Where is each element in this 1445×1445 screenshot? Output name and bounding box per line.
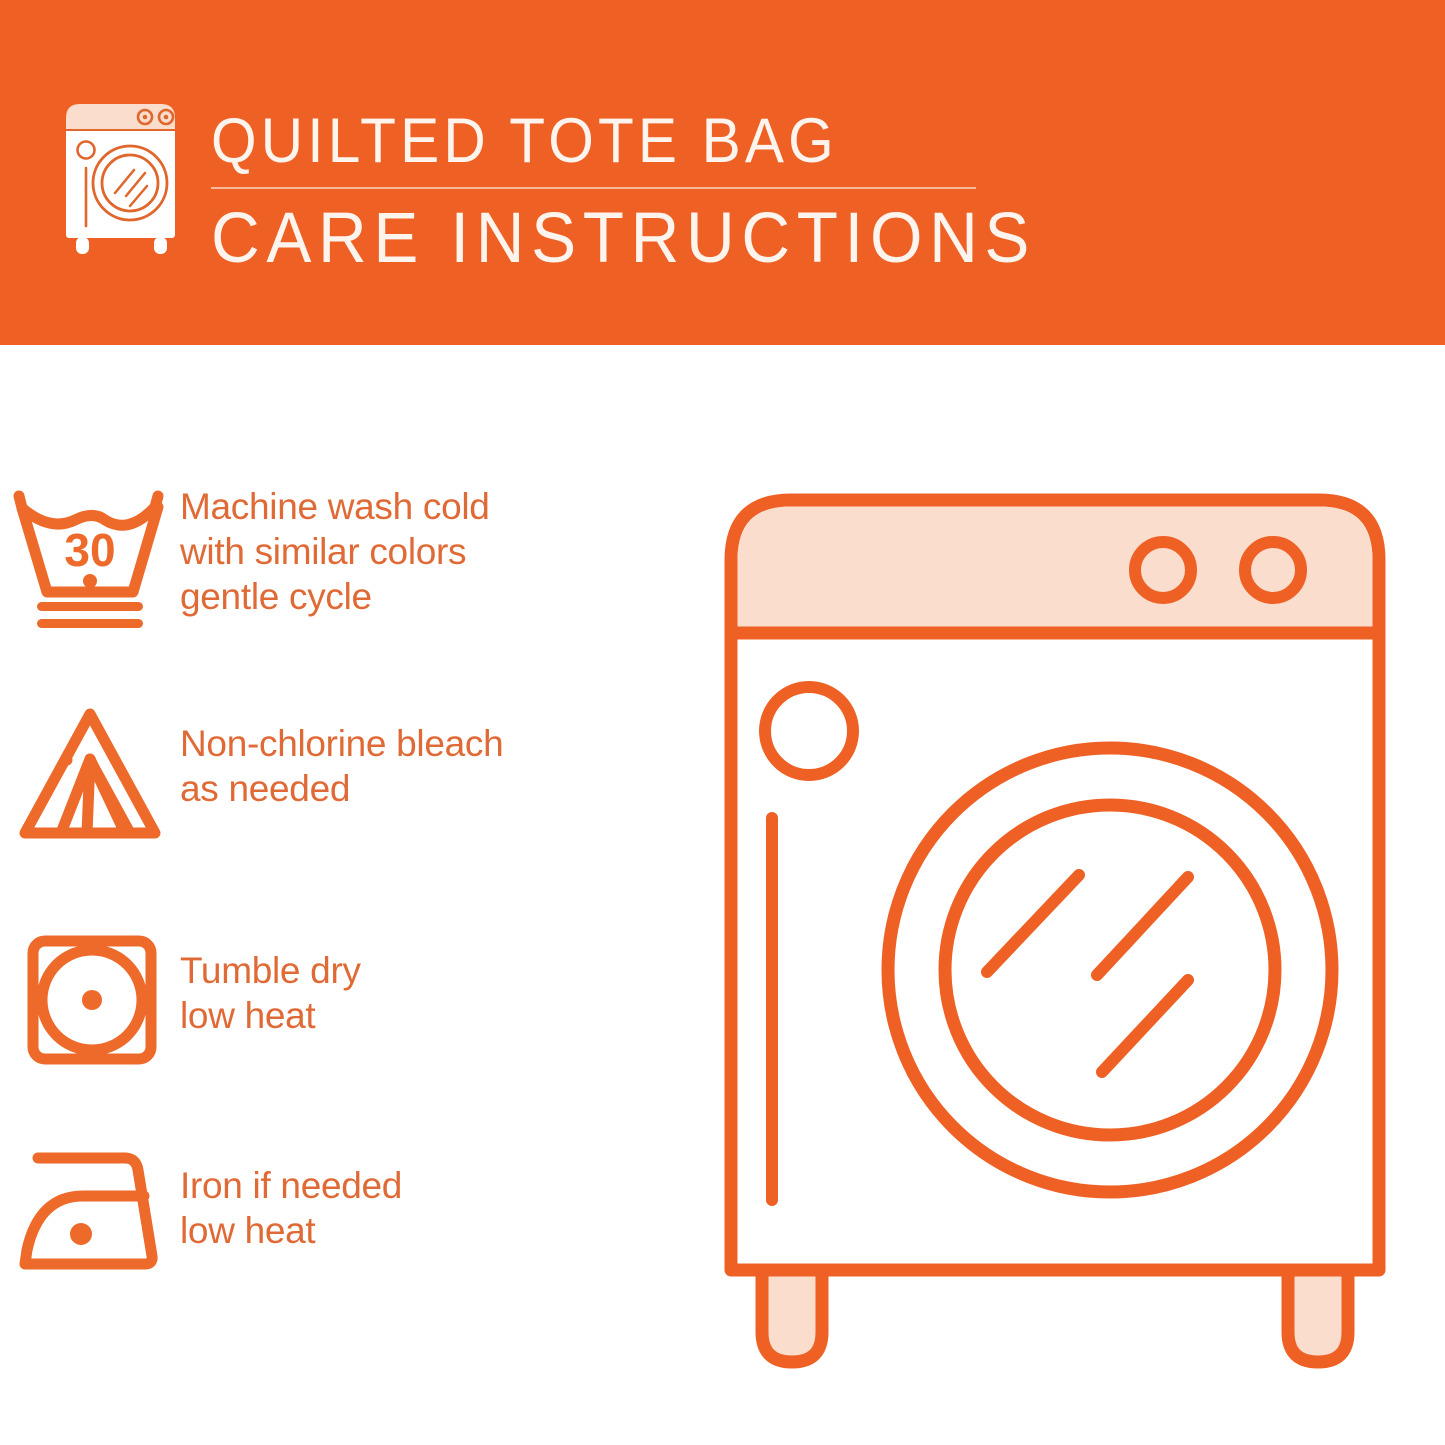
front-load-washing-machine-illustration	[710, 470, 1400, 1390]
care-label-tumble-dry: Tumble dry low heat	[180, 920, 361, 1038]
control-panel	[738, 507, 1373, 634]
care-row-bleach: Non-chlorine bleach as needed	[0, 695, 700, 855]
care-label-machine-wash: Machine wash cold with similar colors ge…	[180, 480, 490, 619]
washing-machine-icon	[62, 100, 192, 255]
care-row-tumble-dry: Tumble dry low heat	[0, 920, 700, 1080]
machine-wash-30-gentle-icon: 30	[0, 480, 180, 640]
page-title: QUILTED TOTE BAG	[211, 104, 936, 178]
care-row-machine-wash: 30 Machine wash cold with similar colors…	[0, 480, 700, 640]
header-text-block: QUILTED TOTE BAG CARE INSTRUCTIONS	[211, 104, 991, 279]
leg-left	[762, 1270, 822, 1362]
leg-right	[1288, 1270, 1348, 1362]
page-subtitle: CARE INSTRUCTIONS	[211, 199, 952, 279]
tumble-dry-low-icon	[0, 920, 180, 1080]
header-band: QUILTED TOTE BAG CARE INSTRUCTIONS	[0, 0, 1445, 345]
care-row-iron: Iron if needed low heat	[0, 1135, 700, 1295]
title-divider	[211, 187, 976, 189]
care-label-bleach: Non-chlorine bleach as needed	[180, 695, 503, 811]
iron-low-heat-icon	[0, 1135, 180, 1295]
care-instructions-infographic: QUILTED TOTE BAG CARE INSTRUCTIONS 30	[0, 0, 1445, 1445]
care-instruction-list: 30 Machine wash cold with similar colors…	[0, 345, 700, 1445]
wash-temperature-value: 30	[64, 524, 115, 576]
care-label-iron: Iron if needed low heat	[180, 1135, 402, 1253]
non-chlorine-bleach-icon	[0, 695, 180, 855]
